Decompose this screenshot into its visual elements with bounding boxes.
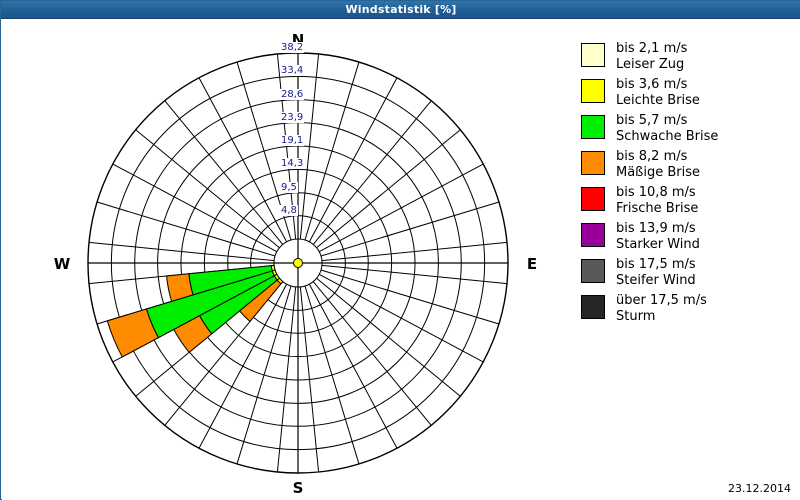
- legend-item: bis 10,8 m/sFrische Brise: [581, 185, 796, 217]
- legend-speed-range: bis 3,6 m/s: [616, 77, 700, 93]
- legend: bis 2,1 m/sLeiser Zugbis 3,6 m/sLeichte …: [581, 41, 796, 329]
- radial-tick-label: 9,5: [280, 182, 298, 193]
- legend-label: bis 13,9 m/sStarker Wind: [616, 221, 700, 253]
- legend-color-swatch: [581, 259, 605, 283]
- radial-tick-label: 28,6: [280, 89, 304, 100]
- calm-center-marker: [294, 259, 303, 268]
- legend-item: bis 8,2 m/sMäßige Brise: [581, 149, 796, 181]
- grid-spoke: [305, 62, 359, 240]
- legend-beaufort-name: Steifer Wind: [616, 273, 696, 289]
- legend-speed-range: bis 2,1 m/s: [616, 41, 687, 57]
- radial-tick-label: 33,4: [280, 65, 304, 76]
- legend-label: bis 2,1 m/sLeiser Zug: [616, 41, 687, 73]
- legend-speed-range: bis 17,5 m/s: [616, 257, 696, 273]
- radial-tick-label: 14,3: [280, 158, 304, 169]
- legend-label: über 17,5 m/sSturm: [616, 293, 707, 325]
- radial-tick-label: 4,8: [280, 205, 298, 216]
- legend-beaufort-name: Leiser Zug: [616, 57, 687, 73]
- legend-item: bis 13,9 m/sStarker Wind: [581, 221, 796, 253]
- grid-spoke: [305, 286, 359, 464]
- legend-beaufort-name: Mäßige Brise: [616, 165, 700, 181]
- legend-color-swatch: [581, 115, 605, 139]
- legend-item: bis 2,1 m/sLeiser Zug: [581, 41, 796, 73]
- legend-color-swatch: [581, 151, 605, 175]
- legend-label: bis 3,6 m/sLeichte Brise: [616, 77, 700, 109]
- legend-label: bis 10,8 m/sFrische Brise: [616, 185, 698, 217]
- legend-speed-range: bis 10,8 m/s: [616, 185, 698, 201]
- legend-color-swatch: [581, 43, 605, 67]
- compass-label-west: W: [52, 255, 72, 273]
- legend-color-swatch: [581, 79, 605, 103]
- legend-item: bis 17,5 m/sSteifer Wind: [581, 257, 796, 289]
- wind-rose-window: Windstatistik [%] N E S W 4,89,514,319,1…: [0, 0, 800, 500]
- legend-speed-range: bis 5,7 m/s: [616, 113, 718, 129]
- legend-item: über 17,5 m/sSturm: [581, 293, 796, 325]
- radial-tick-label: 23,9: [280, 112, 304, 123]
- legend-beaufort-name: Sturm: [616, 309, 707, 325]
- legend-color-swatch: [581, 295, 605, 319]
- date-stamp: 23.12.2014: [728, 482, 791, 495]
- legend-label: bis 8,2 m/sMäßige Brise: [616, 149, 700, 181]
- legend-color-swatch: [581, 223, 605, 247]
- grid-spoke: [321, 270, 499, 324]
- legend-beaufort-name: Frische Brise: [616, 201, 698, 217]
- legend-color-swatch: [581, 187, 605, 211]
- legend-beaufort-name: Starker Wind: [616, 237, 700, 253]
- legend-speed-range: bis 8,2 m/s: [616, 149, 700, 165]
- window-titlebar: Windstatistik [%]: [1, 1, 800, 19]
- legend-item: bis 3,6 m/sLeichte Brise: [581, 77, 796, 109]
- legend-speed-range: über 17,5 m/s: [616, 293, 707, 309]
- grid-spoke: [97, 202, 275, 256]
- compass-label-south: S: [288, 479, 308, 497]
- radial-tick-label: 19,1: [280, 135, 304, 146]
- radial-tick-label: 38,2: [280, 42, 304, 53]
- legend-beaufort-name: Leichte Brise: [616, 93, 700, 109]
- legend-beaufort-name: Schwache Brise: [616, 129, 718, 145]
- legend-label: bis 17,5 m/sSteifer Wind: [616, 257, 696, 289]
- legend-label: bis 5,7 m/sSchwache Brise: [616, 113, 718, 145]
- legend-speed-range: bis 13,9 m/s: [616, 221, 700, 237]
- compass-label-east: E: [522, 255, 542, 273]
- grid-spoke: [321, 202, 499, 256]
- legend-item: bis 5,7 m/sSchwache Brise: [581, 113, 796, 145]
